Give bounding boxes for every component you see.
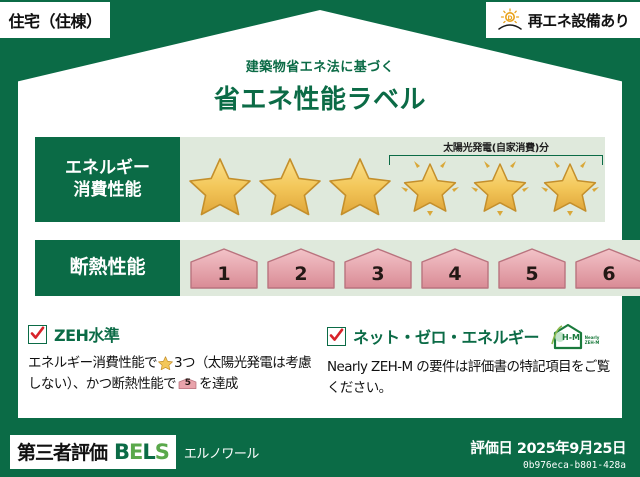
star-sparkle-icon xyxy=(398,156,462,216)
insulation-label: 断熱性能 xyxy=(69,256,145,280)
evaluation-id: 0b976eca-b801-428a xyxy=(470,460,626,471)
star-icon xyxy=(258,156,322,216)
star-icon-inline xyxy=(158,356,173,371)
net-zero-energy-title: ネット・ゼロ・エネルギー xyxy=(353,324,539,348)
zeh-standard-block: ZEH水準 エネルギー消費性能で3つ（太陽光発電は考慮しない）、かつ断熱性能で5… xyxy=(28,322,314,395)
star-solar-2 xyxy=(466,155,534,217)
insulation-level-number: 2 xyxy=(264,263,338,285)
net-zero-energy-description: Nearly ZEH-M の要件は評価書の特記項目をご覧ください。 xyxy=(327,357,613,399)
check-icon xyxy=(28,325,47,344)
star-solar-1 xyxy=(396,155,464,217)
star-sparkle-icon xyxy=(468,156,532,216)
insulation-level-4: 4 xyxy=(418,246,492,290)
insulation-level-1: 1 xyxy=(187,246,261,290)
zeh-standard-description: エネルギー消費性能で3つ（太陽光発電は考慮しない）、かつ断熱性能で5を達成 xyxy=(28,353,314,395)
energy-performance-label: 住宅（住棟） D 再エネ設備あり 建築物省エネ法に基づ xyxy=(0,0,640,477)
building-type-badge: 住宅（住棟） xyxy=(0,2,110,38)
insulation-level-5: 5 xyxy=(495,246,569,290)
star-filled-3 xyxy=(326,155,394,217)
insulation-level-number: 3 xyxy=(341,263,415,285)
net-zero-energy-header: ネット・ゼロ・エネルギー H-M Nearly ZEH-M xyxy=(327,322,613,350)
bels-letter-e: E xyxy=(129,440,142,464)
bels-logo: BELS xyxy=(114,440,169,464)
label-title: 省エネ性能ラベル xyxy=(0,79,640,116)
star-rating xyxy=(180,155,604,217)
bels-letter-l: L xyxy=(142,440,154,464)
insulation-level-number: 6 xyxy=(572,263,640,285)
star-filled-1 xyxy=(186,155,254,217)
company-name: エルノワール xyxy=(184,443,259,462)
insulation-level-2: 2 xyxy=(264,246,338,290)
solar-bracket-label: 太陽光発電(自家消費)分 xyxy=(389,139,603,154)
energy-performance-label-box: エネルギー 消費性能 xyxy=(35,137,180,222)
title-block: 建築物省エネ法に基づく 省エネ性能ラベル xyxy=(0,56,640,116)
building-type-label: 住宅（住棟） xyxy=(8,8,101,32)
star-icon xyxy=(328,156,392,216)
nearly-zeh-m-logo-icon: H-M Nearly ZEH-M xyxy=(549,322,601,350)
zeh-standard-header: ZEH水準 xyxy=(28,322,314,346)
bels-letter-b: B xyxy=(114,440,129,464)
third-party-label: 第三者評価 xyxy=(17,438,107,465)
check-icon xyxy=(327,327,346,346)
insulation-level-3: 3 xyxy=(341,246,415,290)
bels-letter-s: S xyxy=(155,440,169,464)
svg-text:D: D xyxy=(507,15,512,22)
zeh-desc-part1: エネルギー消費性能で xyxy=(28,355,157,371)
insulation-level-scale: 1 2 3 4 xyxy=(180,246,640,290)
star-filled-2 xyxy=(256,155,324,217)
energy-stars-area: 太陽光発電(自家消費)分 xyxy=(180,137,605,222)
label-subtitle: 建築物省エネ法に基づく xyxy=(0,56,640,75)
house-icon-inline: 5 xyxy=(178,376,197,391)
bels-badge: 第三者評価 BELS xyxy=(10,435,176,469)
energy-label-line2: 消費性能 xyxy=(74,180,142,201)
energy-performance-row: エネルギー 消費性能 太陽光発電(自家消費)分 xyxy=(35,137,605,222)
insulation-level-number: 4 xyxy=(418,263,492,285)
renewable-energy-label: 再エネ設備あり xyxy=(528,10,630,31)
footer-left: 第三者評価 BELS エルノワール xyxy=(10,435,259,469)
svg-text:H-M: H-M xyxy=(562,333,580,342)
house-icon-inline-number: 5 xyxy=(178,377,197,391)
zeh-standard-title: ZEH水準 xyxy=(54,322,119,346)
insulation-level-number: 1 xyxy=(187,263,261,285)
footer-right: 評価日 2025年9月25日 0b976eca-b801-428a xyxy=(470,437,626,471)
renewable-energy-badge: D 再エネ設備あり xyxy=(486,2,640,38)
insulation-performance-row: 断熱性能 1 2 xyxy=(35,240,605,296)
svg-text:ZEH-M: ZEH-M xyxy=(585,340,600,345)
insulation-level-number: 5 xyxy=(495,263,569,285)
star-sparkle-icon xyxy=(538,156,602,216)
star-solar-3 xyxy=(536,155,604,217)
sun-icon: D xyxy=(497,8,523,32)
zeh-desc-part3: を達成 xyxy=(199,376,238,392)
energy-label-line1: エネルギー xyxy=(65,158,150,179)
insulation-levels-area: 1 2 3 4 xyxy=(180,240,640,296)
star-icon xyxy=(188,156,252,216)
insulation-level-6: 6 xyxy=(572,246,640,290)
net-zero-energy-block: ネット・ゼロ・エネルギー H-M Nearly ZEH-M Nearly ZEH… xyxy=(327,322,613,399)
evaluation-date: 評価日 2025年9月25日 xyxy=(470,437,626,458)
insulation-performance-label-box: 断熱性能 xyxy=(35,240,180,296)
